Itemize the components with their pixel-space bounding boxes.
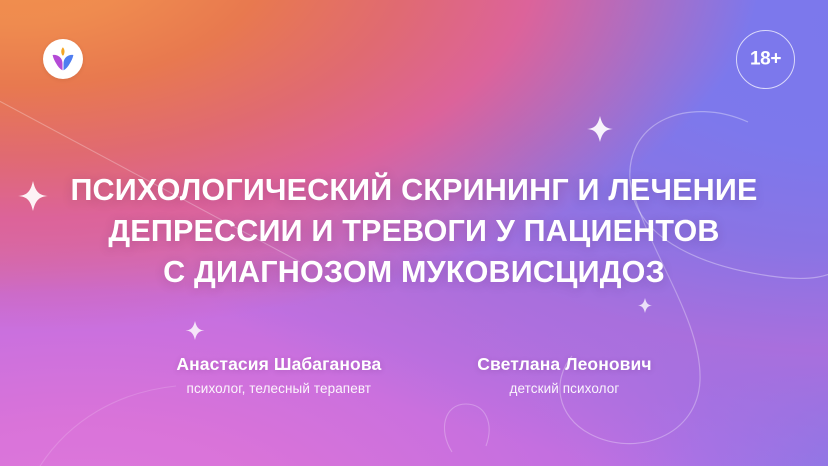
presenter-role: психолог, телесный терапевт (176, 378, 381, 400)
presenter-name: Анастасия Шабаганова (176, 352, 381, 376)
sparkle-icon (638, 298, 653, 313)
page-title: ПСИХОЛОГИЧЕСКИЙ СКРИНИНГ И ЛЕЧЕНИЕ ДЕПРЕ… (0, 170, 828, 293)
sparkle-icon (587, 116, 613, 142)
brand-logo[interactable] (43, 39, 83, 79)
title-line-2: ДЕПРЕССИИ И ТРЕВОГИ У ПАЦИЕНТОВ (0, 211, 828, 252)
age-restriction-label: 18+ (750, 50, 781, 69)
age-restriction-badge: 18+ (736, 30, 795, 89)
presenter-list: Анастасия Шабаганова психолог, телесный … (0, 352, 828, 400)
title-line-3: С ДИАГНОЗОМ МУКОВИСЦИДОЗ (0, 252, 828, 293)
title-line-1: ПСИХОЛОГИЧЕСКИЙ СКРИНИНГ И ЛЕЧЕНИЕ (0, 170, 828, 211)
presenter-item: Светлана Леонович детский психолог (477, 352, 651, 400)
decorative-small-loop (444, 404, 489, 452)
leaf-bird-logo-icon (51, 46, 75, 72)
presenter-name: Светлана Леонович (477, 352, 651, 376)
sparkle-icon (186, 321, 205, 340)
presenter-item: Анастасия Шабаганова психолог, телесный … (176, 352, 381, 400)
presenter-role: детский психолог (477, 378, 651, 400)
webinar-title-slide: 18+ ПСИХОЛОГИЧЕСКИЙ СКРИНИНГ И ЛЕЧЕНИЕ Д… (0, 0, 828, 466)
